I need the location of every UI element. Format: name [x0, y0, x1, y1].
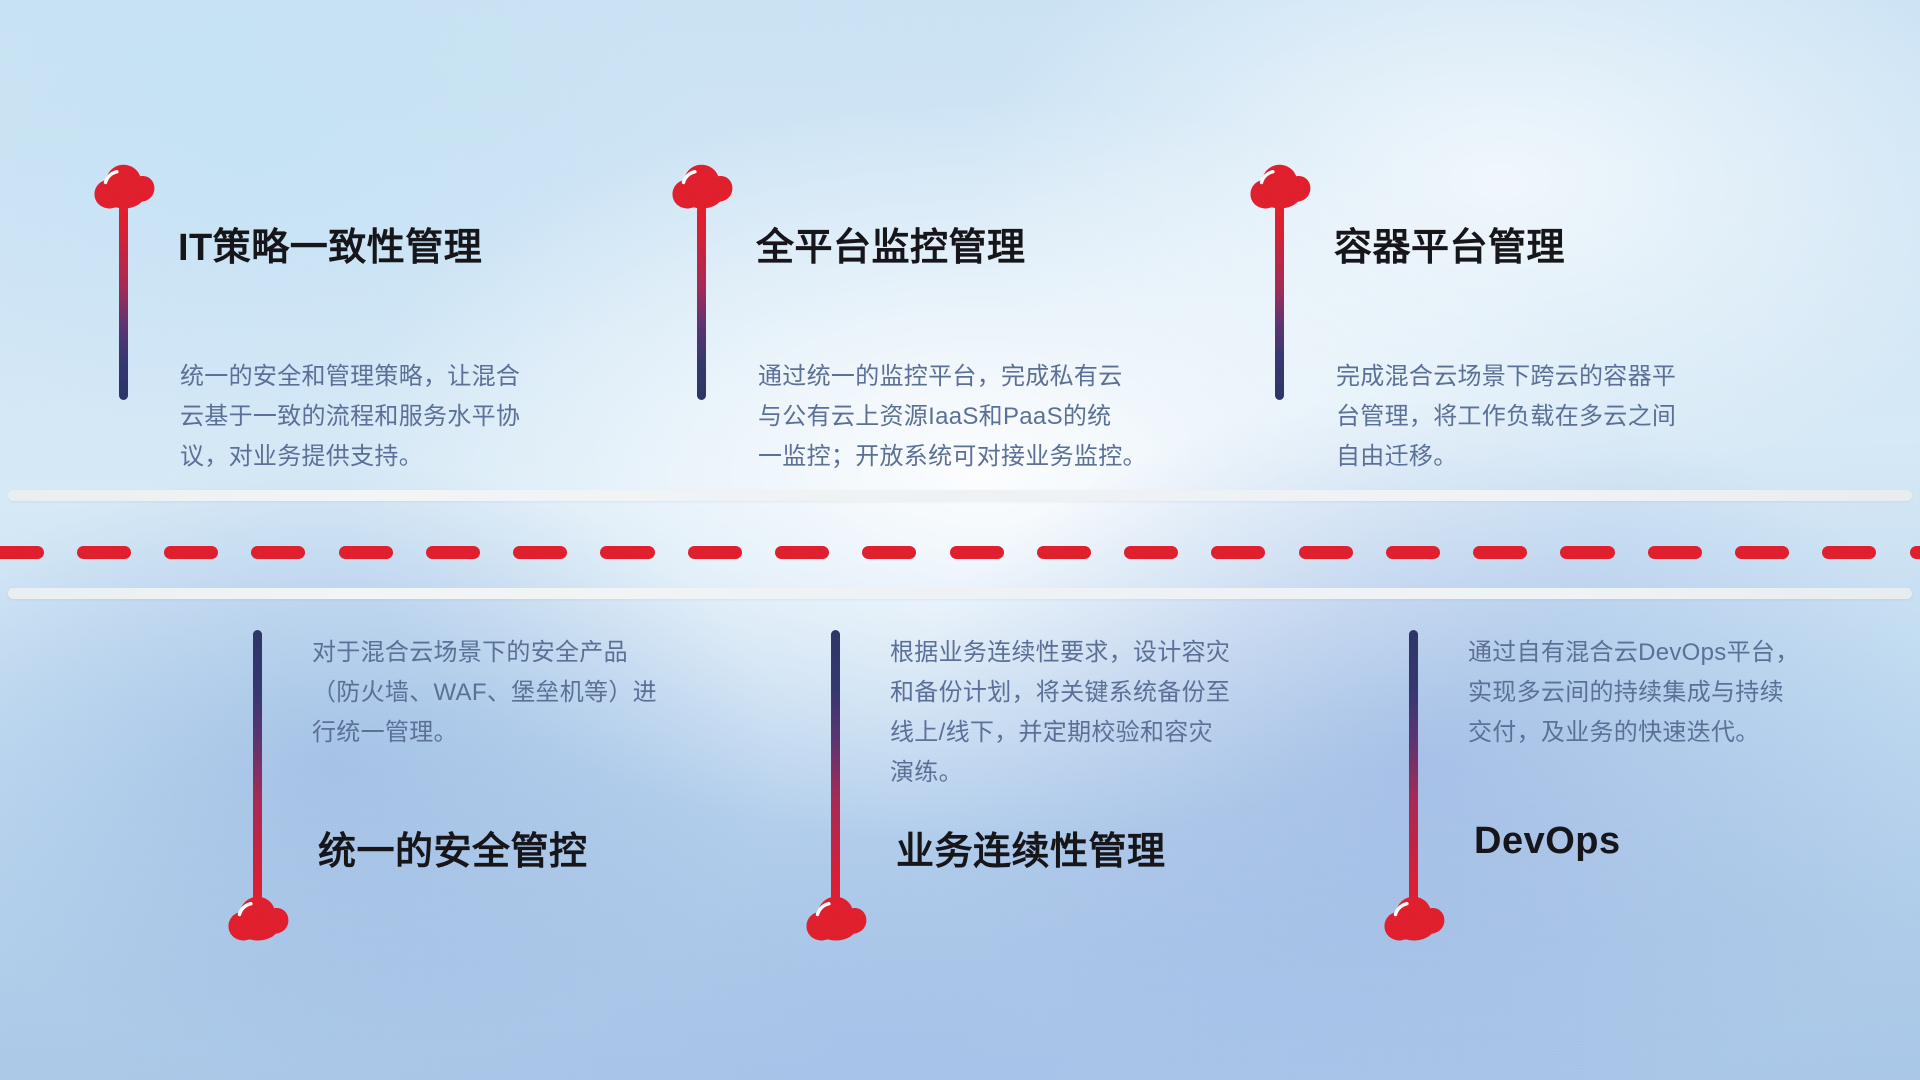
- card-body: 通过自有混合云DevOps平台， 实现多云间的持续集成与持续 交付，及业务的快速…: [1468, 633, 1908, 753]
- dash-segment: [164, 546, 218, 559]
- cloud-icon: [805, 895, 867, 941]
- dash-segment: [1560, 546, 1614, 559]
- card-title: 全平台监控管理: [756, 216, 1026, 271]
- dash-segment: [1822, 546, 1876, 559]
- dash-segment: [1473, 546, 1527, 559]
- card-body: 统一的安全和管理策略，让混合 云基于一致的流程和服务水平协 议，对业务提供支持。: [180, 357, 620, 477]
- dash-segment: [688, 546, 742, 559]
- dash-segment: [600, 546, 654, 559]
- stem-connector: [1409, 630, 1418, 920]
- infographic-canvas: IT策略一致性管理 统一的安全和管理策略，让混合 云基于一致的流程和服务水平协 …: [0, 0, 1920, 1080]
- card-body: 根据业务连续性要求，设计容灾 和备份计划，将关键系统备份至 线上/线下，并定期校…: [890, 633, 1330, 793]
- stem-connector: [1275, 205, 1284, 400]
- dash-segment: [251, 546, 305, 559]
- cloud-icon: [671, 163, 733, 209]
- card-body: 通过统一的监控平台，完成私有云 与公有云上资源IaaS和PaaS的统 一监控；开…: [758, 357, 1228, 477]
- card-title: 容器平台管理: [1334, 216, 1565, 271]
- dash-segment: [1037, 546, 1091, 559]
- dash-segment: [862, 546, 916, 559]
- dash-segment: [426, 546, 480, 559]
- dash-segment: [77, 546, 131, 559]
- divider-bar-bottom: [8, 588, 1912, 599]
- cloud-icon: [1249, 163, 1311, 209]
- dash-segment: [1124, 546, 1178, 559]
- card-title: DevOps: [1474, 820, 1621, 863]
- cloud-icon: [93, 163, 155, 209]
- dash-segment: [513, 546, 567, 559]
- dash-segment: [1648, 546, 1702, 559]
- cloud-icon: [227, 895, 289, 941]
- stem-connector: [697, 205, 706, 400]
- stem-connector: [831, 630, 840, 920]
- card-title: IT策略一致性管理: [178, 216, 482, 271]
- card-body: 对于混合云场景下的安全产品 （防火墙、WAF、堡垒机等）进 行统一管理。: [312, 633, 752, 753]
- card-title: 业务连续性管理: [896, 820, 1166, 875]
- dash-segment: [1211, 546, 1265, 559]
- card-title: 统一的安全管控: [318, 820, 588, 875]
- dash-segment: [1299, 546, 1353, 559]
- dash-segment: [950, 546, 1004, 559]
- divider-bar-top: [8, 490, 1912, 501]
- dash-segment: [1735, 546, 1789, 559]
- stem-connector: [253, 630, 262, 920]
- cloud-icon: [1383, 895, 1445, 941]
- dash-segment: [0, 546, 44, 559]
- dash-segment: [775, 546, 829, 559]
- dash-segment: [1386, 546, 1440, 559]
- dash-segment: [339, 546, 393, 559]
- dash-segment: [1910, 546, 1920, 559]
- dashed-center-line: [0, 546, 1920, 559]
- stem-connector: [119, 205, 128, 400]
- card-body: 完成混合云场景下跨云的容器平 台管理，将工作负载在多云之间 自由迁移。: [1336, 357, 1776, 477]
